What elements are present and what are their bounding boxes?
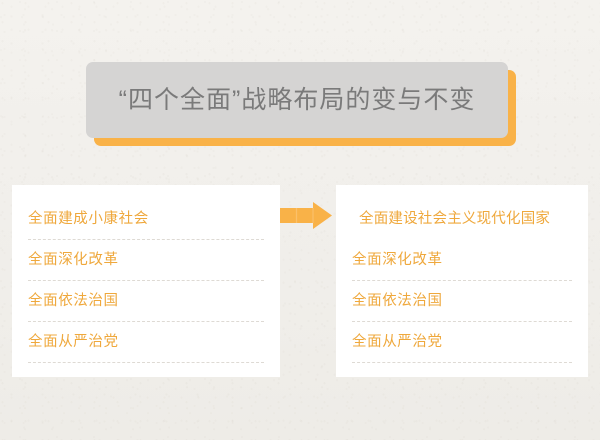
list-item: 全面从严治党 <box>28 322 264 363</box>
list-item-label: 全面深化改革 <box>28 252 119 268</box>
title-block: “四个全面”战略布局的变与不变 <box>86 62 508 138</box>
list-item-label: 全面从严治党 <box>28 334 119 350</box>
title-box: “四个全面”战略布局的变与不变 <box>86 62 508 138</box>
list-item-label: 全面依法治国 <box>352 293 443 309</box>
list-item: 全面从严治党 <box>352 322 572 363</box>
list-item-label: 全面依法治国 <box>28 293 119 309</box>
list-item: 全面依法治国 <box>28 281 264 322</box>
list-item: 全面深化改革 <box>352 240 572 281</box>
list-before: 全面建成小康社会 全面深化改革 全面依法治国 全面从严治党 <box>28 199 264 363</box>
panel-before: 全面建成小康社会 全面深化改革 全面依法治国 全面从严治党 <box>12 185 280 377</box>
list-item: 全面建成小康社会 <box>28 199 264 240</box>
slide-canvas: “四个全面”战略布局的变与不变 全面建成小康社会 全面深化改革 全面依法治国 全… <box>0 0 600 440</box>
list-item: 全面依法治国 <box>352 281 572 322</box>
panel-after: 全面建设社会主义现代化国家 全面深化改革 全面依法治国 全面从严治党 <box>336 185 588 377</box>
arrow-right-icon <box>280 202 332 229</box>
list-item-label: 全面建设社会主义现代化国家 <box>359 211 550 227</box>
list-item-label: 全面深化改革 <box>352 252 443 268</box>
list-item-label: 全面建成小康社会 <box>28 211 149 227</box>
list-item-label: 全面从严治党 <box>352 334 443 350</box>
page-title: “四个全面”战略布局的变与不变 <box>119 88 476 113</box>
list-item: 全面深化改革 <box>28 240 264 281</box>
list-after: 全面建设社会主义现代化国家 全面深化改革 全面依法治国 全面从严治党 <box>352 199 572 363</box>
list-item: 全面建设社会主义现代化国家 <box>352 199 572 240</box>
